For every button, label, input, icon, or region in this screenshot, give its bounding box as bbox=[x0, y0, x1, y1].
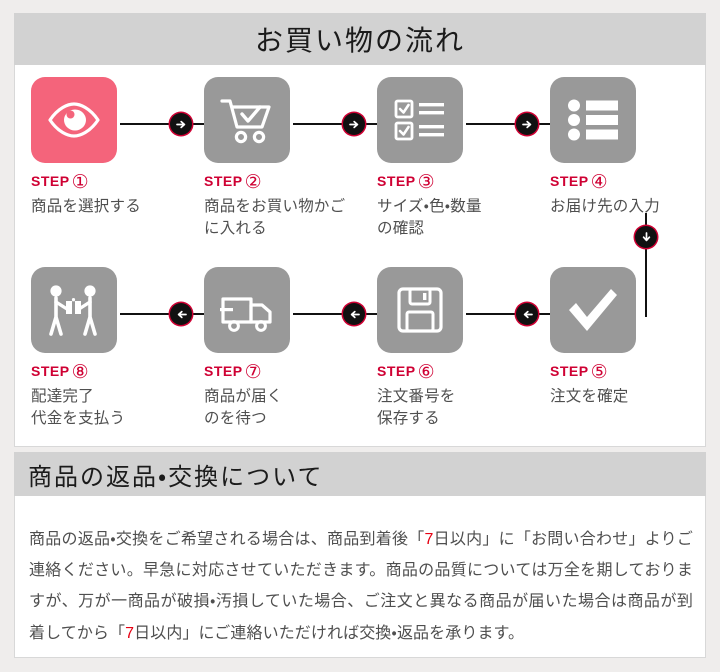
delivery-truck-icon bbox=[218, 287, 276, 333]
step-6-word: STEP bbox=[377, 363, 416, 379]
flow-diagram-panel: STEP① 商品を選択する bbox=[14, 65, 706, 447]
step-3-word: STEP bbox=[377, 173, 416, 189]
step-5-word: STEP bbox=[550, 363, 589, 379]
step-7-number: ⑦ bbox=[245, 361, 262, 383]
flow-step-2[interactable]: STEP② 商品をお買い物かご に入れる bbox=[188, 65, 361, 255]
step-2-tile bbox=[204, 77, 290, 163]
step-8-label: STEP⑧ bbox=[31, 363, 188, 382]
step-2-label: STEP② bbox=[204, 173, 361, 192]
step-1-label: STEP① bbox=[31, 173, 188, 192]
arrow-right-step3-step4 bbox=[516, 113, 538, 135]
floppy-disk-save-icon bbox=[396, 286, 444, 334]
flow-section-header: お買い物の流れ bbox=[14, 13, 706, 65]
step-1-tile bbox=[31, 77, 117, 163]
step-3-description: サイズ・色・数量 の確認 bbox=[377, 196, 534, 241]
flow-step-8[interactable]: STEP⑧ 配達完了 代金を支払う bbox=[15, 255, 188, 445]
returns-days-highlight-2: 7 bbox=[125, 625, 134, 642]
returns-policy-panel: 商品の返品・交換をご希望される場合は、商品到着後「7日以内」に「お問い合わせ」よ… bbox=[14, 496, 706, 658]
step-2-description: 商品をお買い物かご に入れる bbox=[204, 196, 361, 241]
step-4-number: ④ bbox=[591, 171, 608, 193]
step-1-word: STEP bbox=[31, 173, 70, 189]
step-4-description: お届け先の入力 bbox=[550, 196, 707, 218]
step-8-tile bbox=[31, 267, 117, 353]
step-8-word: STEP bbox=[31, 363, 70, 379]
flow-step-1[interactable]: STEP① 商品を選択する bbox=[15, 65, 188, 255]
delivery-handover-icon bbox=[45, 284, 103, 336]
step-5-description: 注文を確定 bbox=[550, 386, 707, 408]
step-3-number: ③ bbox=[418, 171, 435, 193]
step-2-number: ② bbox=[245, 171, 262, 193]
step-2-word: STEP bbox=[204, 173, 243, 189]
step-7-tile bbox=[204, 267, 290, 353]
flow-row-bottom: STEP⑧ 配達完了 代金を支払う bbox=[15, 255, 707, 445]
step-7-label: STEP⑦ bbox=[204, 363, 361, 382]
step-6-number: ⑥ bbox=[418, 361, 435, 383]
flow-step-6[interactable]: STEP⑥ 注文番号を 保存する bbox=[361, 255, 534, 445]
arrow-right-step1-step2 bbox=[170, 113, 192, 135]
flow-row-top: STEP① 商品を選択する bbox=[15, 65, 707, 255]
returns-section-header: 商品の返品・交換について bbox=[14, 452, 706, 496]
arrow-left-step7-step8 bbox=[170, 303, 192, 325]
checkmark-icon bbox=[565, 286, 621, 334]
bullet-list-icon bbox=[567, 99, 619, 141]
eye-icon bbox=[47, 93, 101, 147]
step-3-tile bbox=[377, 77, 463, 163]
step-4-label: STEP④ bbox=[550, 173, 707, 192]
step-3-label: STEP③ bbox=[377, 173, 534, 192]
arrow-left-step6-step7 bbox=[343, 303, 365, 325]
step-5-label: STEP⑤ bbox=[550, 363, 707, 382]
flow-step-5[interactable]: STEP⑤ 注文を確定 bbox=[534, 255, 707, 445]
step-8-description: 配達完了 代金を支払う bbox=[31, 386, 188, 431]
step-6-description: 注文番号を 保存する bbox=[377, 386, 534, 431]
step-8-number: ⑧ bbox=[72, 361, 89, 383]
step-5-number: ⑤ bbox=[591, 361, 608, 383]
step-5-tile bbox=[550, 267, 636, 353]
flow-rows: STEP① 商品を選択する bbox=[15, 65, 707, 447]
flow-step-3[interactable]: STEP③ サイズ・色・数量 の確認 bbox=[361, 65, 534, 255]
step-7-word: STEP bbox=[204, 363, 243, 379]
step-1-number: ① bbox=[72, 171, 89, 193]
returns-policy-text: 商品の返品・交換をご希望される場合は、商品到着後「7日以内」に「お問い合わせ」よ… bbox=[29, 524, 693, 649]
returns-text-part3: 日以内」にご連絡いただければ交換・返品を承ります。 bbox=[134, 625, 524, 642]
step-4-tile bbox=[550, 77, 636, 163]
step-6-label: STEP⑥ bbox=[377, 363, 534, 382]
checklist-icon bbox=[394, 98, 446, 142]
flow-section-title: お買い物の流れ bbox=[255, 19, 465, 59]
arrow-down-step4-step5 bbox=[635, 226, 657, 248]
arrow-left-step5-step6 bbox=[516, 303, 538, 325]
returns-text-part1: 商品の返品・交換をご希望される場合は、商品到着後「 bbox=[29, 531, 424, 548]
shopping-flow-page: お買い物の流れ bbox=[0, 0, 720, 672]
shopping-cart-icon bbox=[219, 94, 275, 146]
step-6-tile bbox=[377, 267, 463, 353]
flow-step-7[interactable]: STEP⑦ 商品が届く のを待つ bbox=[188, 255, 361, 445]
step-1-description: 商品を選択する bbox=[31, 196, 188, 218]
returns-section-title: 商品の返品・交換について bbox=[28, 457, 323, 492]
arrow-right-step2-step3 bbox=[343, 113, 365, 135]
flow-step-4[interactable]: STEP④ お届け先の入力 bbox=[534, 65, 707, 255]
step-4-word: STEP bbox=[550, 173, 589, 189]
step-7-description: 商品が届く のを待つ bbox=[204, 386, 361, 431]
